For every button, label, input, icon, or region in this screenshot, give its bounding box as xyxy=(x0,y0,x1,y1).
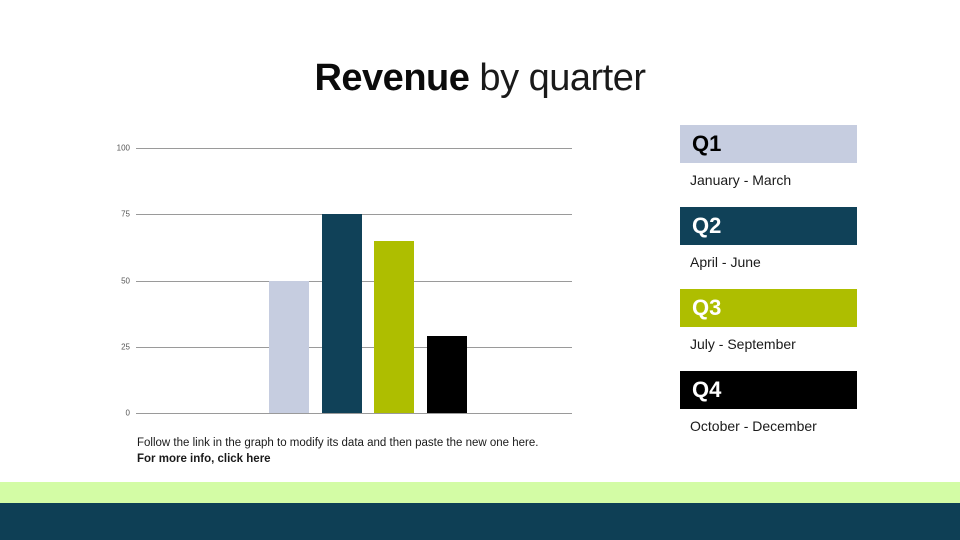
legend-description: October - December xyxy=(680,417,857,435)
bar-q3 xyxy=(374,241,414,413)
y-axis-tick-label: 0 xyxy=(126,409,130,418)
y-axis-tick-label: 75 xyxy=(121,210,130,219)
legend-chip-q1: Q1 xyxy=(680,125,857,163)
legend-description: July - September xyxy=(680,335,857,353)
page-title-light: by quarter xyxy=(469,57,645,99)
chart-plot-area: 0255075100 xyxy=(136,148,572,413)
caption-text-line2: new one here. xyxy=(466,437,539,449)
legend-chip-q2: Q2 xyxy=(680,207,857,245)
gridline-0: 0 xyxy=(136,413,572,414)
bar-q4 xyxy=(427,336,467,413)
y-axis-tick-label: 25 xyxy=(121,342,130,351)
legend-item-q4: Q4October - December xyxy=(680,371,857,435)
chart-bars xyxy=(269,148,479,413)
footer-teal-band xyxy=(0,503,960,540)
bar-q1 xyxy=(269,281,309,414)
legend-chip-label: Q3 xyxy=(692,297,721,319)
legend-item-q3: Q3July - September xyxy=(680,289,857,353)
legend-chip-label: Q1 xyxy=(692,133,721,155)
caption-link[interactable]: For more info, click here xyxy=(137,453,271,465)
legend-item-q2: Q2April - June xyxy=(680,207,857,271)
legend-description: April - June xyxy=(680,253,857,271)
footer-green-band xyxy=(0,482,960,503)
y-axis-tick-label: 50 xyxy=(121,276,130,285)
caption-text-line1: Follow the link in the graph to modify i… xyxy=(137,437,466,449)
legend-item-q1: Q1January - March xyxy=(680,125,857,189)
page-title: Revenue by quarter xyxy=(0,55,960,101)
legend-chip-label: Q4 xyxy=(692,379,721,401)
legend-chip-q4: Q4 xyxy=(680,371,857,409)
legend-chip-label: Q2 xyxy=(692,215,721,237)
bar-q2 xyxy=(322,214,362,413)
quarter-legend: Q1January - MarchQ2April - JuneQ3July - … xyxy=(680,125,857,453)
bar-chart: 0255075100 xyxy=(112,140,572,425)
legend-description: January - March xyxy=(680,171,857,189)
page-title-strong: Revenue xyxy=(314,57,469,99)
legend-chip-q3: Q3 xyxy=(680,289,857,327)
chart-caption: Follow the link in the graph to modify i… xyxy=(137,435,547,467)
y-axis-tick-label: 100 xyxy=(117,144,130,153)
